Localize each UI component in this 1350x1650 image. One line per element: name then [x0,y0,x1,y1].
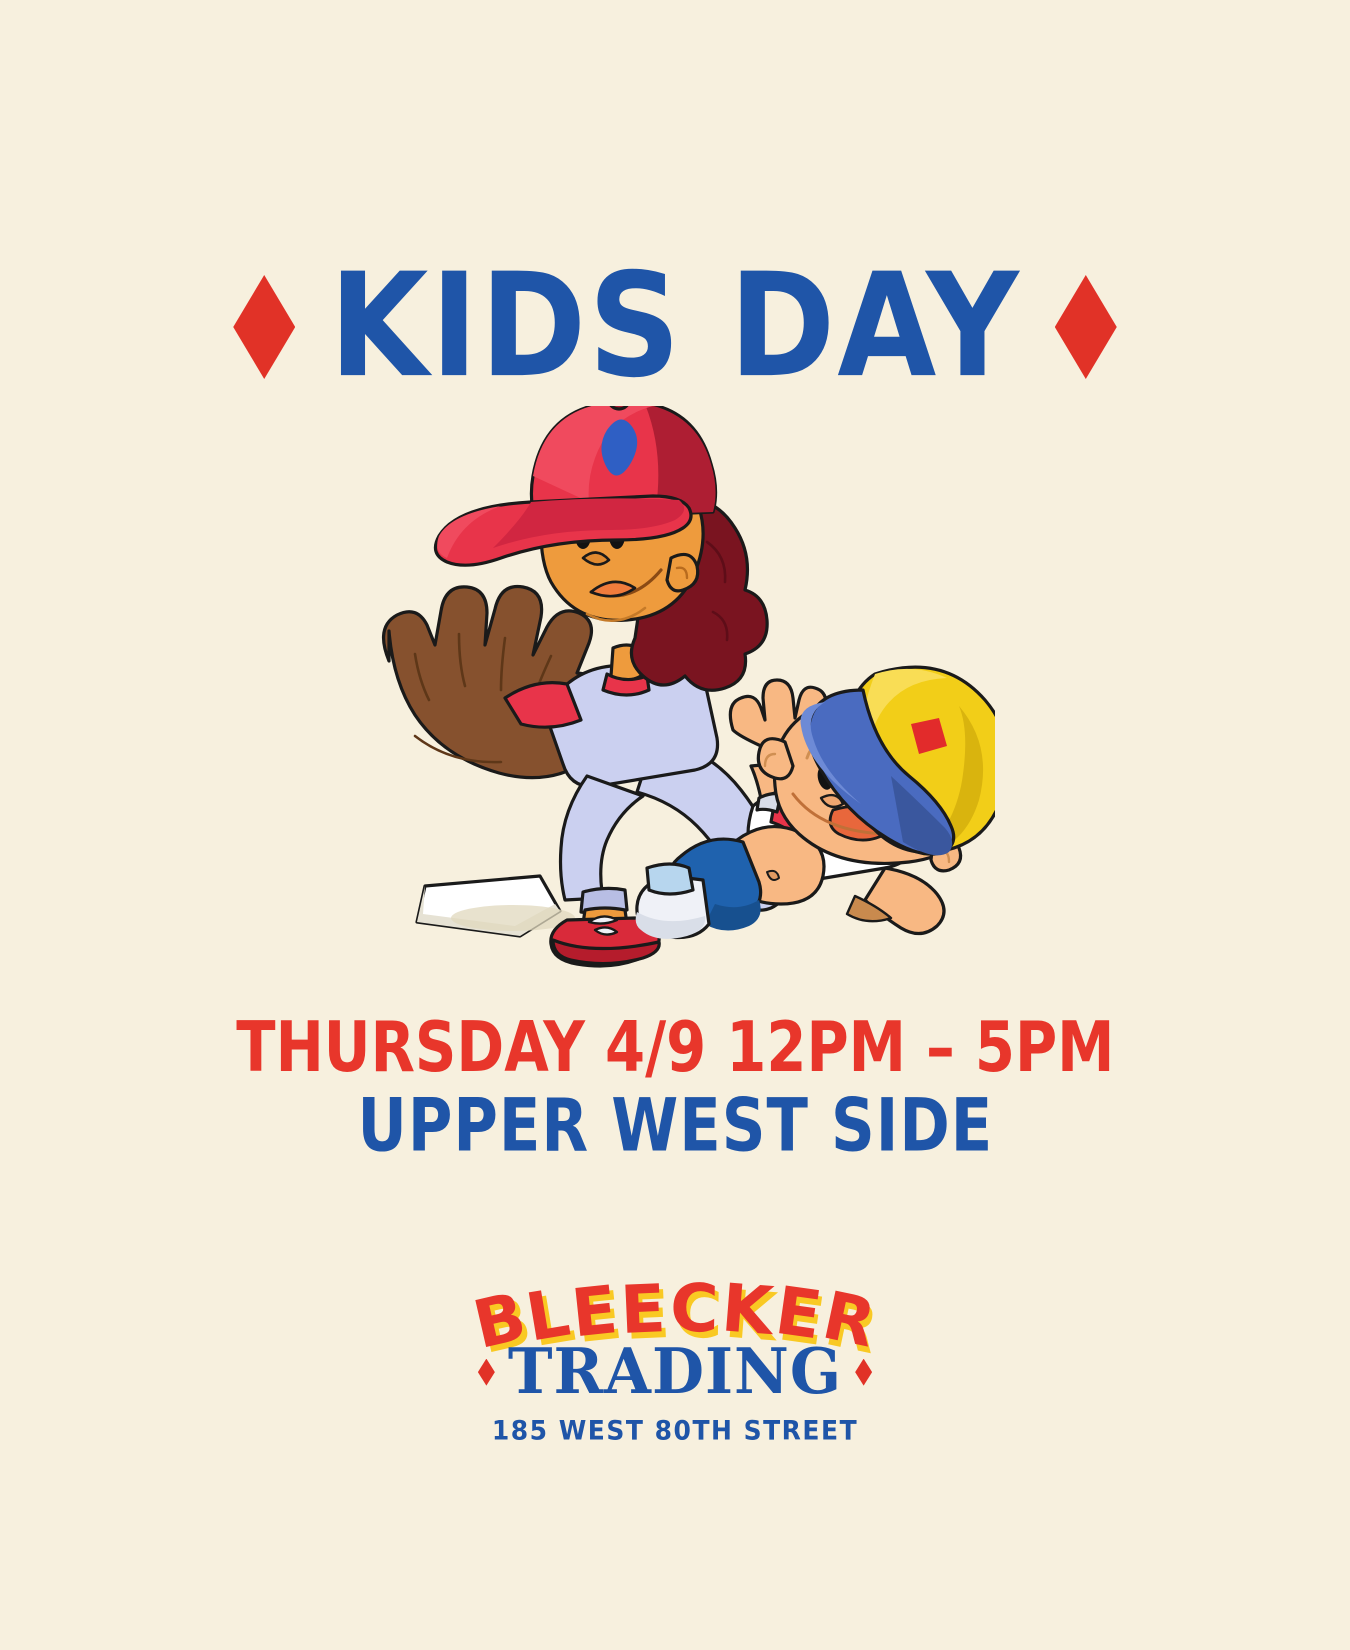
poster-canvas: KIDS DAY [0,0,1350,1650]
brand-name-top: B L E E C K E R [415,1252,935,1344]
diamond-right-small-icon [855,1359,872,1386]
event-location: UPPER WEST SIDE [227,1087,1124,1166]
brand-logo: B L E E C K E R TRADING 185 WEST 80TH ST… [415,1252,935,1445]
page-title: KIDS DAY [329,255,1021,398]
store-address: 185 WEST 80TH STREET [415,1415,935,1445]
event-details: THURSDAY 4/9 12PM – 5PM UPPER WEST SIDE [218,1018,1133,1160]
event-date-time: THURSDAY 4/9 12PM – 5PM [236,1013,1114,1084]
diamond-left-small-icon [478,1359,495,1386]
baseball-kids-illustration [355,406,995,976]
brand-letter: E [619,1276,667,1344]
brand-name-bottom: TRADING [508,1341,842,1404]
headline: KIDS DAY [233,262,1117,392]
diamond-left-icon [233,275,295,379]
diamond-right-icon [1055,275,1117,379]
brand-letter: C [669,1276,719,1343]
